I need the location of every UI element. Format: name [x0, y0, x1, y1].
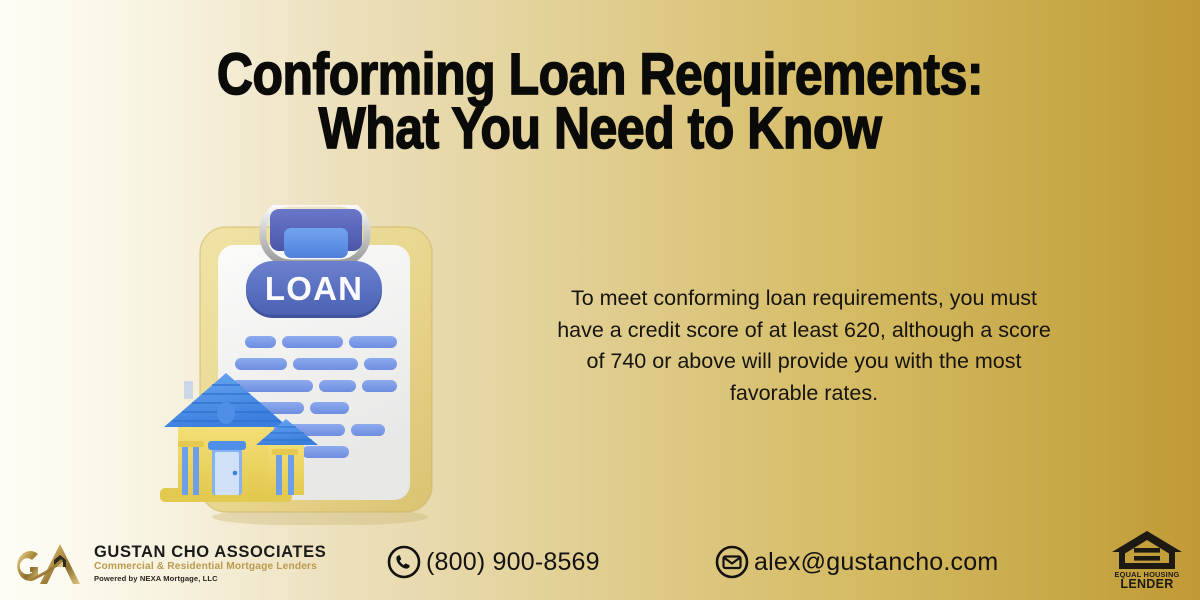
logo-text-block: GUSTAN CHO ASSOCIATES Commercial & Resid…: [94, 544, 326, 584]
marketing-banner: Conforming Loan Requirements: What You N…: [0, 0, 1200, 600]
logo-company-name: GUSTAN CHO ASSOCIATES: [94, 544, 326, 561]
ehl-line-2: LENDER: [1120, 577, 1173, 590]
gca-monogram-icon: [16, 536, 88, 592]
phone-number: (800) 900-8569: [426, 548, 600, 577]
phone-icon: [386, 544, 422, 580]
loan-clipboard-illustration: LOAN: [160, 205, 460, 525]
page-title: Conforming Loan Requirements: What You N…: [0, 48, 1200, 156]
equal-housing-lender-badge: EQUAL HOUSING LENDER: [1108, 528, 1186, 590]
envelope-icon: [714, 544, 750, 580]
email-contact[interactable]: alex@gustancho.com: [714, 544, 998, 580]
company-logo[interactable]: GUSTAN CHO ASSOCIATES Commercial & Resid…: [16, 536, 326, 592]
body-paragraph: To meet conforming loan requirements, yo…: [548, 283, 1060, 409]
logo-tagline: Commercial & Residential Mortgage Lender…: [94, 561, 326, 574]
headline-line-1: Conforming Loan Requirements:: [84, 48, 1116, 102]
loan-badge-label: LOAN: [265, 270, 363, 307]
equal-housing-lender-icon: EQUAL HOUSING LENDER: [1108, 528, 1186, 590]
logo-powered-by: Powered by NEXA Mortgage, LLC: [94, 574, 326, 584]
footer-bar: GUSTAN CHO ASSOCIATES Commercial & Resid…: [0, 520, 1200, 600]
phone-contact[interactable]: (800) 900-8569: [386, 544, 600, 580]
headline-line-2: What You Need to Know: [84, 102, 1116, 156]
email-address: alex@gustancho.com: [754, 548, 998, 577]
